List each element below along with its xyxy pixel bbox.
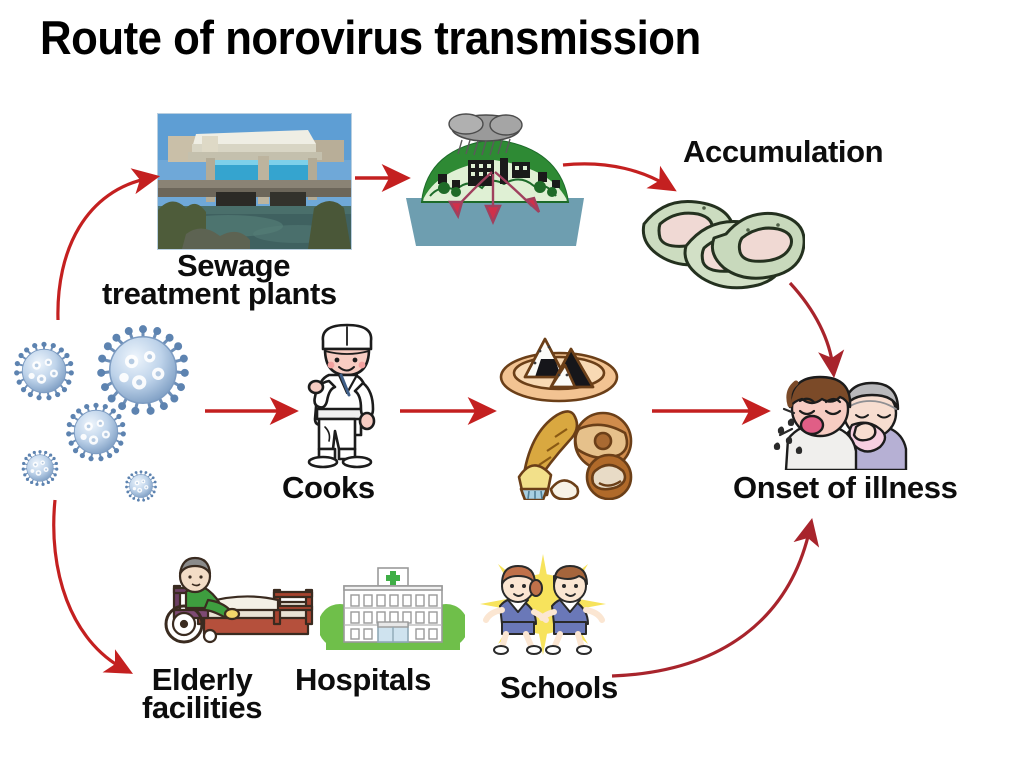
cook-figure-icon [295, 315, 400, 470]
hospital-building-icon [320, 560, 465, 650]
arrow-accumulation-to-illness [790, 283, 833, 368]
arrow-virus-to-elderly [54, 500, 124, 669]
sewage-label-line2: treatment plants [102, 278, 337, 310]
page-title: Route of norovirus transmission [40, 10, 701, 65]
oysters-icon [630, 180, 805, 295]
rice-balls-onigiri-icon [495, 325, 625, 405]
elderly-wheelchair-bed-icon [150, 548, 315, 648]
cooks-label: Cooks [282, 472, 375, 504]
bread-assortment-icon [515, 405, 640, 500]
sewage-treatment-plant-icon [157, 113, 352, 250]
sick-people-icon [770, 365, 915, 470]
hospitals-label: Hospitals [295, 664, 431, 696]
coastal-bay-runoff-icon [400, 110, 590, 255]
schoolchildren-icon [478, 552, 608, 657]
schools-label: Schools [500, 672, 618, 704]
elderly-label-line2: facilities [112, 692, 292, 724]
diagram-canvas: Route of norovirus transmission [0, 0, 1024, 772]
norovirus-particles-icon [0, 305, 215, 510]
accumulation-label: Accumulation [683, 136, 883, 168]
arrow-schools-to-illness [612, 528, 810, 676]
illness-label: Onset of illness [733, 472, 957, 504]
